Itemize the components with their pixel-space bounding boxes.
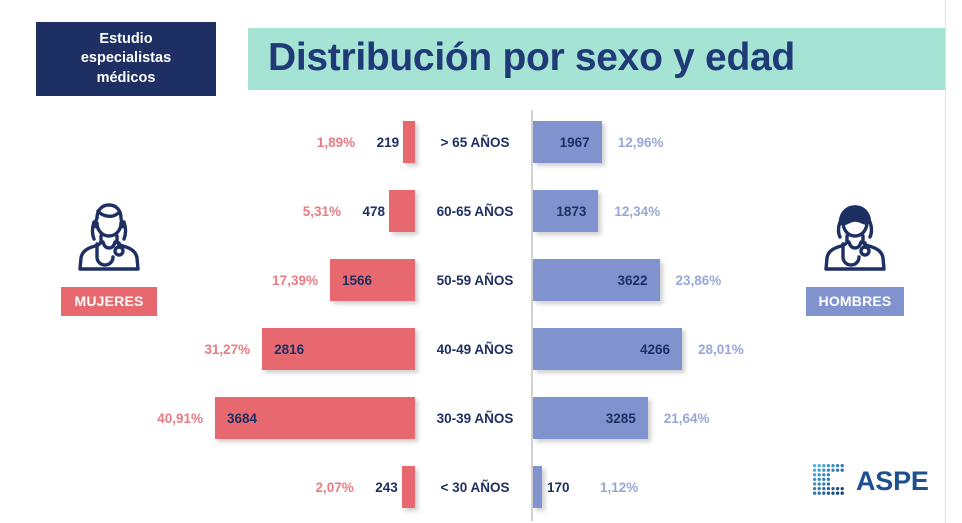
study-badge-line1: Estudio [99,30,152,49]
page-title: Distribución por sexo y edad [268,36,928,80]
women-percent-label: 17,39% [252,246,318,315]
women-percent-label: 5,31% [275,177,341,246]
slide-canvas: Estudio especialistas médicos Distribuci… [0,0,962,523]
women-percent-label: 40,91% [137,384,203,453]
men-percent-label: 28,01% [698,315,744,384]
women-value-label: 3684 [227,384,257,453]
men-percent-label: 1,12% [600,453,638,522]
women-value-label: 1566 [342,246,372,315]
women-value-label: 243 [366,453,398,522]
women-bar [402,466,415,508]
age-group-label: > 65 AÑOS [419,108,531,177]
aspe-dotted-square-logo [812,463,848,499]
women-legend: MUJERES [44,196,174,316]
age-group-label: 60-65 AÑOS [419,177,531,246]
women-value-label: 478 [353,177,385,246]
men-value-label: 4266 [533,315,670,384]
men-value-label: 1967 [533,108,590,177]
study-badge-line3: médicos [97,69,156,88]
women-bar [403,121,415,163]
page-right-edge [945,0,962,523]
men-value-label: 3622 [533,246,648,315]
men-percent-label: 23,86% [676,246,722,315]
men-percent-label: 12,96% [618,108,664,177]
men-legend: HOMBRES [790,196,920,316]
men-badge: HOMBRES [806,287,905,316]
men-percent-label: 21,64% [664,384,710,453]
women-bar [389,190,415,232]
women-value-label: 2816 [274,315,304,384]
men-value-label: 3285 [533,384,636,453]
chart-row: 2432,07%< 30 AÑOS1701,12% [0,453,945,522]
men-value-label: 1873 [533,177,586,246]
women-percent-label: 2,07% [288,453,354,522]
men-percent-label: 12,34% [614,177,660,246]
study-badge: Estudio especialistas médicos [36,22,216,96]
chart-row: 2191,89%> 65 AÑOS196712,96% [0,108,945,177]
chart-row: 281631,27%40-49 AÑOS426628,01% [0,315,945,384]
study-badge-line2: especialistas [81,49,171,68]
age-group-label: 50-59 AÑOS [419,246,531,315]
chart-row: 368440,91%30-39 AÑOS328521,64% [0,384,945,453]
men-bar [533,466,542,508]
women-percent-label: 1,89% [289,108,355,177]
age-group-label: < 30 AÑOS [419,453,531,522]
women-percent-label: 31,27% [184,315,250,384]
age-group-label: 40-49 AÑOS [419,315,531,384]
women-badge: MUJERES [61,287,156,316]
aspe-logo: ASPE [812,463,929,499]
women-value-label: 219 [367,108,399,177]
men-value-label: 170 [547,453,570,522]
age-group-label: 30-39 AÑOS [419,384,531,453]
female-doctor-icon [70,196,148,278]
male-doctor-icon [816,196,894,278]
aspe-logo-text: ASPE [856,466,929,497]
